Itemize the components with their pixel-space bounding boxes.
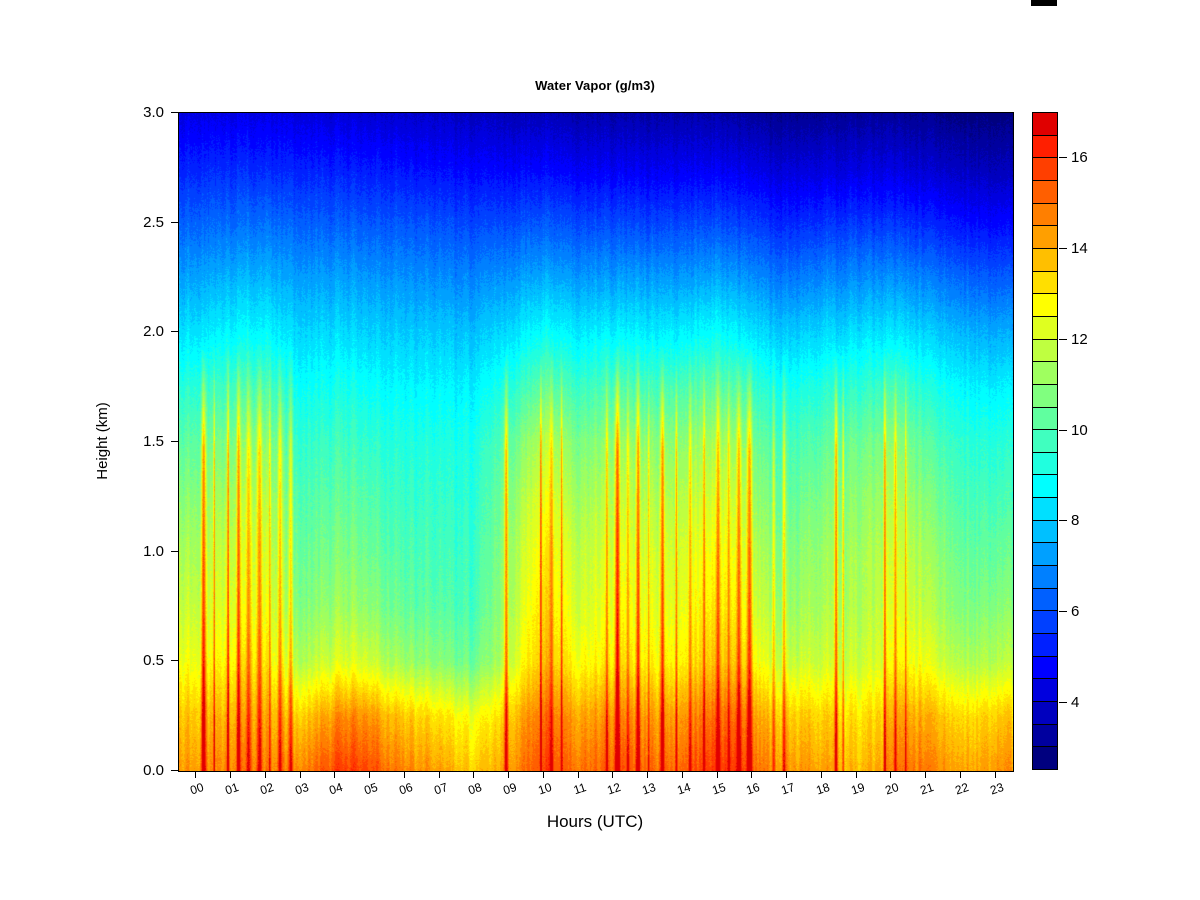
- colorbar-band: [1033, 452, 1057, 475]
- colorbar-band: [1033, 293, 1057, 316]
- x-axis-tick-label: 17: [777, 780, 800, 798]
- colorbar-tick-mark: [1059, 430, 1067, 431]
- x-axis-tick-mark: [925, 771, 926, 778]
- x-axis-tick-label: 08: [464, 780, 487, 798]
- x-axis-tick-label: 10: [533, 780, 556, 798]
- y-axis-tick-label: 1.0: [108, 544, 164, 559]
- x-axis-tick-mark: [751, 771, 752, 778]
- x-axis-tick-label: 07: [429, 780, 452, 798]
- colorbar-tick-label: 12: [1071, 332, 1088, 347]
- x-axis-tick-mark: [578, 771, 579, 778]
- water-vapor-figure: Water Vapor (g/m3) 0.00.51.01.52.02.53.0…: [0, 0, 1200, 900]
- colorbar-band: [1033, 316, 1057, 339]
- x-axis-tick-mark: [612, 771, 613, 778]
- y-axis-tick-mark: [171, 770, 178, 771]
- y-axis-tick-mark: [171, 112, 178, 113]
- colorbar-band: [1033, 565, 1057, 588]
- colorbar-band: [1033, 203, 1057, 226]
- x-axis-tick-mark: [821, 771, 822, 778]
- colorbar-band: [1033, 407, 1057, 430]
- colorbar-tick-mark: [1059, 702, 1067, 703]
- x-axis-tick-mark: [647, 771, 648, 778]
- y-axis-tick-mark: [171, 551, 178, 552]
- x-axis-tick-mark: [230, 771, 231, 778]
- colorbar-band: [1033, 746, 1057, 769]
- water-vapor-curtain-canvas: [179, 113, 1013, 771]
- y-axis-tick-mark: [171, 441, 178, 442]
- colorbar-band: [1033, 248, 1057, 271]
- x-axis-tick-label: 02: [255, 780, 278, 798]
- x-axis-tick-mark: [508, 771, 509, 778]
- colorbar-band: [1033, 474, 1057, 497]
- x-axis-tick-label: 22: [950, 780, 973, 798]
- y-axis-tick-mark: [171, 331, 178, 332]
- colorbar-tick-label: 14: [1071, 241, 1088, 256]
- colorbar-tick-mark: [1059, 520, 1067, 521]
- colorbar-tick-mark: [1059, 157, 1067, 158]
- colorbar-band: [1033, 542, 1057, 565]
- x-axis-tick-label: 01: [221, 780, 244, 798]
- x-axis-tick-label: 19: [846, 780, 869, 798]
- colorbar-legend: [1032, 112, 1058, 770]
- x-axis-tick-mark: [786, 771, 787, 778]
- colorbar-band: [1033, 339, 1057, 362]
- x-axis-tick-label: 23: [985, 780, 1008, 798]
- colorbar-band: [1033, 180, 1057, 203]
- x-axis-tick-label: 00: [186, 780, 209, 798]
- x-axis-tick-label: 15: [707, 780, 730, 798]
- y-axis-title: Height (km): [94, 341, 111, 541]
- x-axis-tick-label: 05: [360, 780, 383, 798]
- x-axis-tick-mark: [300, 771, 301, 778]
- colorbar-band: [1033, 520, 1057, 543]
- y-axis-tick-mark: [171, 222, 178, 223]
- x-axis-tick-label: 13: [638, 780, 661, 798]
- colorbar-band: [1033, 271, 1057, 294]
- colorbar-band: [1033, 633, 1057, 656]
- colorbar-band: [1033, 678, 1057, 701]
- y-axis-tick-label: 2.5: [108, 215, 164, 230]
- y-axis-tick-label: 0.0: [108, 763, 164, 778]
- colorbar-band: [1033, 656, 1057, 679]
- colorbar-band: [1033, 429, 1057, 452]
- x-axis-tick-mark: [960, 771, 961, 778]
- colorbar-tick-mark: [1059, 248, 1067, 249]
- x-axis-tick-mark: [439, 771, 440, 778]
- x-axis-tick-label: 03: [290, 780, 313, 798]
- x-axis-tick-label: 09: [499, 780, 522, 798]
- x-axis-tick-label: 16: [742, 780, 765, 798]
- x-axis-title: Hours (UTC): [178, 812, 1012, 832]
- y-axis-tick-mark: [171, 660, 178, 661]
- x-axis-tick-mark: [717, 771, 718, 778]
- y-axis-tick-label: 1.5: [108, 434, 164, 449]
- x-axis-tick-mark: [369, 771, 370, 778]
- x-axis-tick-label: 20: [881, 780, 904, 798]
- colorbar-band: [1033, 113, 1057, 135]
- colorbar-tick-label: 10: [1071, 423, 1088, 438]
- heatmap-plot-panel: [178, 112, 1014, 772]
- x-axis-tick-mark: [682, 771, 683, 778]
- x-axis-tick-mark: [473, 771, 474, 778]
- colorbar-band: [1033, 361, 1057, 384]
- x-axis-tick-label: 06: [394, 780, 417, 798]
- page-title: Water Vapor (g/m3): [178, 78, 1012, 93]
- colorbar-band: [1033, 610, 1057, 633]
- colorbar-tick-label: 8: [1071, 513, 1079, 528]
- colorbar-tick-label: 4: [1071, 695, 1079, 710]
- colorbar-band: [1033, 724, 1057, 747]
- x-axis-tick-mark: [543, 771, 544, 778]
- x-axis-tick-label: 18: [811, 780, 834, 798]
- x-axis-tick-label: 04: [325, 780, 348, 798]
- x-axis-tick-mark: [856, 771, 857, 778]
- colorbar-band: [1033, 225, 1057, 248]
- colorbar-band: [1033, 588, 1057, 611]
- x-axis-tick-mark: [995, 771, 996, 778]
- y-axis-tick-label: 2.0: [108, 324, 164, 339]
- colorbar-tick-label: 16: [1071, 150, 1088, 165]
- y-axis-tick-label: 3.0: [108, 105, 164, 120]
- x-axis-tick-label: 12: [603, 780, 626, 798]
- top-right-artifact-bar: [1031, 0, 1057, 6]
- colorbar-band: [1033, 157, 1057, 180]
- colorbar-band: [1033, 497, 1057, 520]
- colorbar-band: [1033, 701, 1057, 724]
- x-axis-tick-mark: [404, 771, 405, 778]
- x-axis-tick-label: 11: [568, 780, 591, 798]
- y-axis-tick-label: 0.5: [108, 653, 164, 668]
- colorbar-tick-label: 6: [1071, 604, 1079, 619]
- colorbar-band: [1033, 384, 1057, 407]
- x-axis-tick-mark: [890, 771, 891, 778]
- colorbar-tick-mark: [1059, 339, 1067, 340]
- x-axis-tick-mark: [265, 771, 266, 778]
- colorbar-band: [1033, 135, 1057, 158]
- x-axis-tick-label: 14: [672, 780, 695, 798]
- x-axis-tick-mark: [334, 771, 335, 778]
- x-axis-tick-label: 21: [916, 780, 939, 798]
- colorbar-tick-mark: [1059, 611, 1067, 612]
- x-axis-tick-mark: [195, 771, 196, 778]
- y-axis-tick-label-group: 0.00.51.01.52.02.53.0: [104, 0, 164, 900]
